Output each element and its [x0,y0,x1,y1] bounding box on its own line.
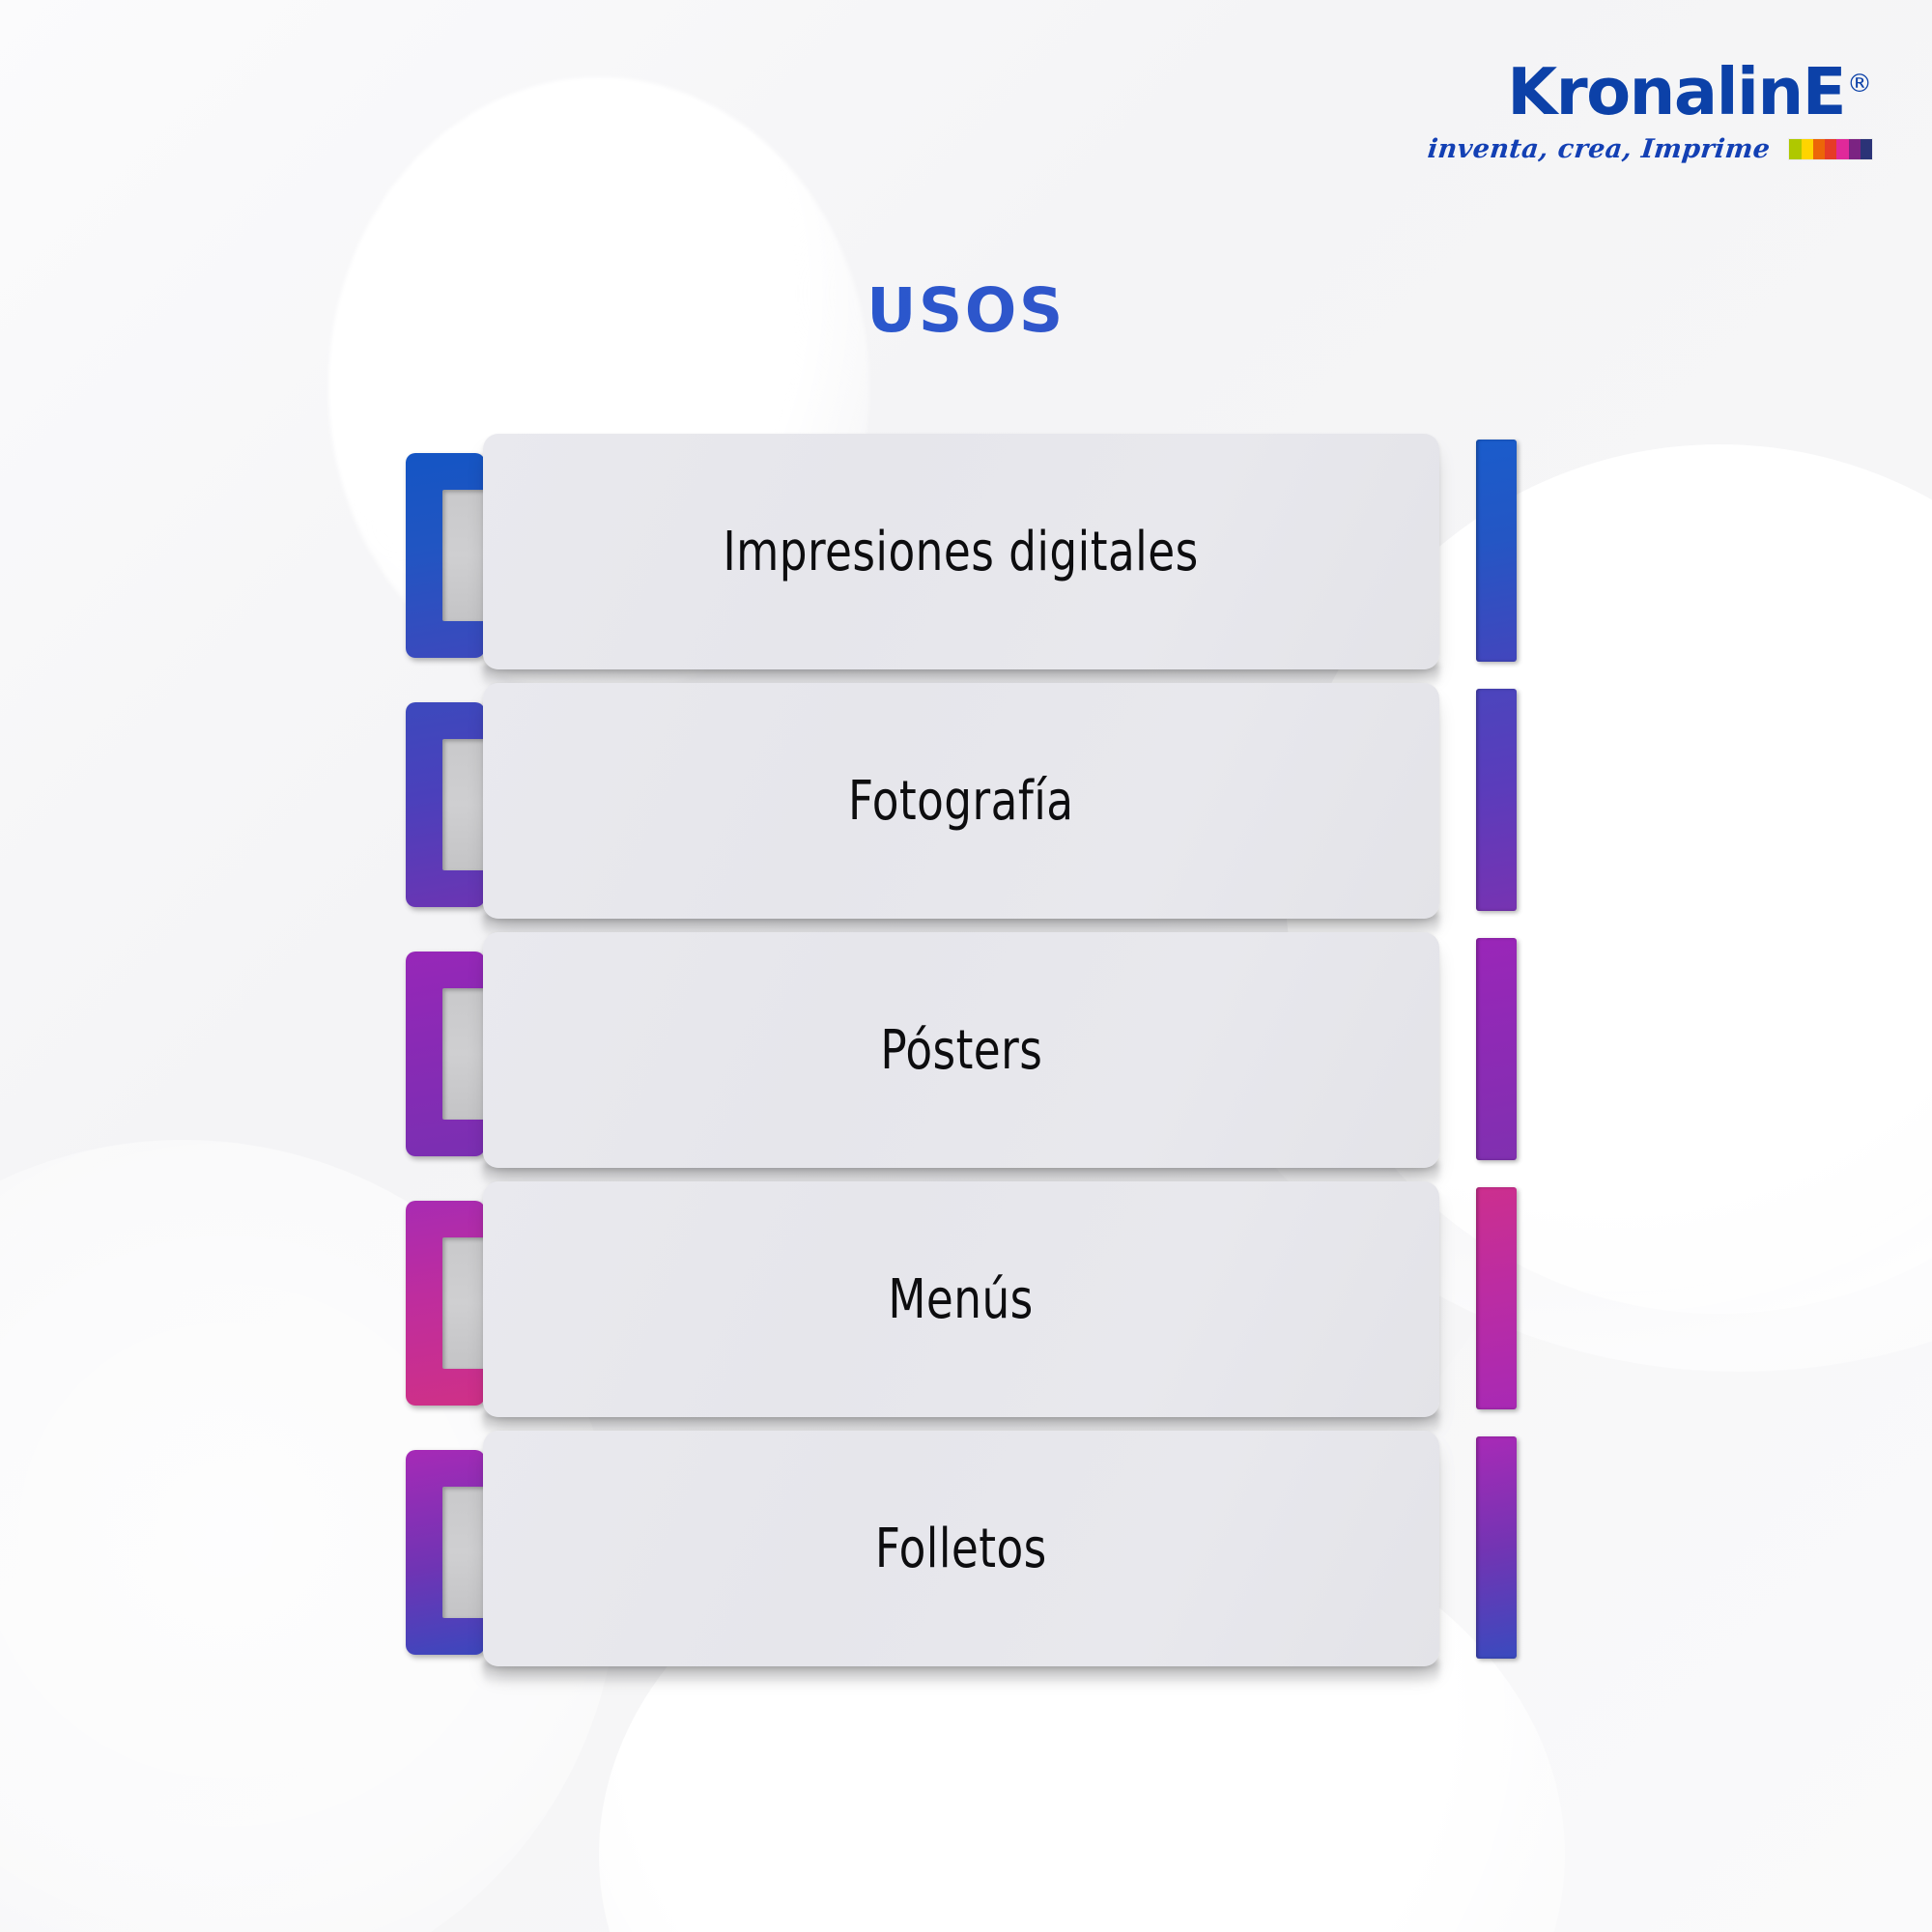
swatch-yellow [1802,139,1813,159]
swatch-orange [1813,139,1825,159]
bracket-accent-icon [406,453,485,658]
brand-wordmark-text: KronalinE [1507,54,1845,129]
usage-card-label: Pósters [880,1019,1042,1082]
list-item[interactable]: Fotografía [0,689,1932,935]
usage-card[interactable]: Fotografía [483,683,1439,919]
swatch-purple [1849,139,1861,159]
usage-card[interactable]: Folletos [483,1431,1439,1666]
edge-accent-bar [1476,689,1517,911]
list-item[interactable]: Pósters [0,938,1932,1184]
usage-card-label: Impresiones digitales [724,521,1199,583]
brand-tagline: inventa, crea, Imprime [1426,134,1772,164]
bracket-accent-icon [406,952,485,1156]
list-item[interactable]: Menús [0,1187,1932,1434]
list-item[interactable]: Folletos [0,1436,1932,1683]
swatch-magenta [1836,139,1848,159]
edge-accent-bar [1476,440,1517,662]
list-item[interactable]: Impresiones digitales [0,440,1932,686]
swatch-red [1825,139,1836,159]
usage-card[interactable]: Menús [483,1181,1439,1417]
usage-card[interactable]: Pósters [483,932,1439,1168]
brand-logo: KronalinE® inventa, crea, Imprime [1428,60,1872,164]
poster-canvas: KronalinE® inventa, crea, Imprime USOS [0,0,1932,1932]
usage-card[interactable]: Impresiones digitales [483,434,1439,669]
edge-accent-bar [1476,1187,1517,1409]
edge-accent-bar [1476,1436,1517,1659]
brand-wordmark: KronalinE® [1507,60,1872,125]
brand-color-swatch-bar [1789,139,1872,159]
edge-accent-bar [1476,938,1517,1160]
bracket-accent-icon [406,702,485,907]
bracket-accent-icon [406,1450,485,1655]
usage-card-label: Fotografía [848,770,1074,833]
swatch-green [1789,139,1801,159]
bracket-accent-icon [406,1201,485,1406]
usage-card-label: Folletos [875,1518,1047,1580]
registered-trademark-icon: ® [1847,70,1872,99]
usage-card-label: Menús [889,1268,1034,1331]
usage-list: Impresiones digitales Fotografía Pósters [0,440,1932,1676]
swatch-navy [1861,139,1872,159]
page-title: USOS [0,275,1932,346]
brand-tagline-row: inventa, crea, Imprime [1428,134,1872,164]
